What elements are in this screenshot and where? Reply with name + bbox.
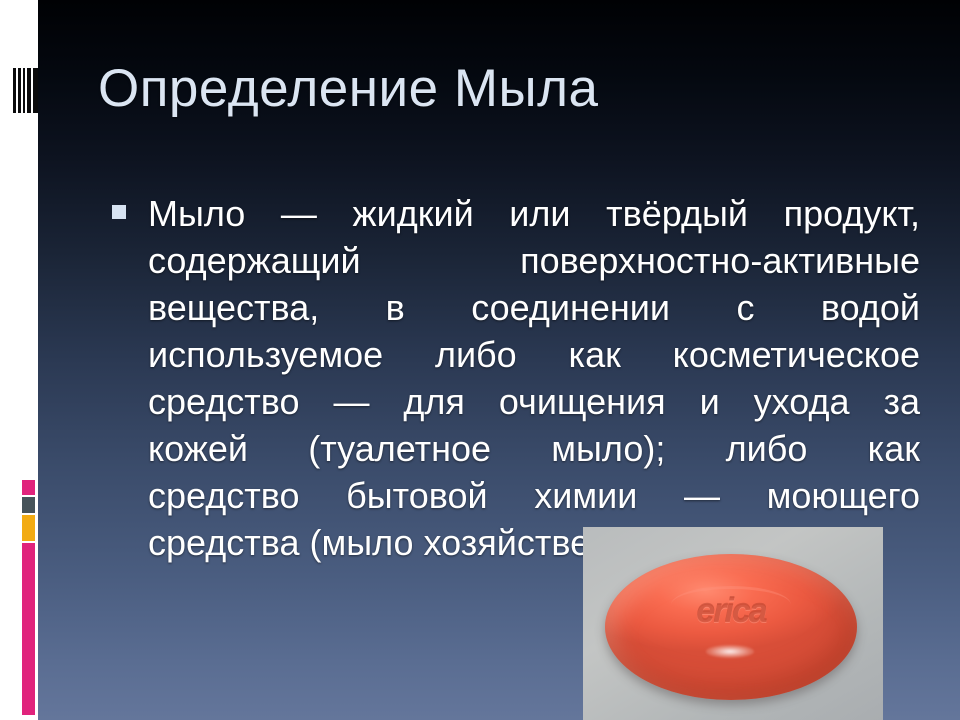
barcode-bar [18, 68, 21, 113]
accent-bar-slate [22, 497, 35, 513]
bullet-list-item: Мыло—жидкийилитвёрдыйпродукт,содержащийп… [108, 190, 920, 566]
slide-body: Мыло—жидкийилитвёрдыйпродукт,содержащийп… [108, 190, 920, 566]
barcode-bar [27, 68, 31, 113]
soap-highlight [706, 645, 754, 658]
body-line: содержащийповерхностно-активные [148, 237, 920, 284]
square-bullet-icon [112, 205, 126, 219]
barcode-bar [13, 68, 16, 113]
body-line: вещества,всоединениисводой [148, 284, 920, 331]
barcode-decoration-icon [13, 68, 39, 113]
soap-bar-photo: erica [583, 527, 883, 720]
body-paragraph: Мыло—жидкийилитвёрдыйпродукт,содержащийп… [148, 190, 920, 566]
soap-bar-shape: erica [605, 554, 857, 700]
accent-bar-pink-long [22, 543, 35, 715]
slide-title: Определение Мыла [98, 58, 928, 120]
barcode-bar [33, 68, 38, 113]
body-line: средство—дляочищенияиуходаза [148, 378, 920, 425]
body-line: Мыло—жидкийилитвёрдыйпродукт, [148, 190, 920, 237]
barcode-bar [23, 68, 25, 113]
body-line: средствобытовойхимии—моющего [148, 472, 920, 519]
presentation-slide: Определение Мыла Мыло—жидкийилитвёрдыйпр… [0, 0, 960, 720]
body-line: кожей(туалетноемыло);либокак [148, 425, 920, 472]
accent-bar-yellow [22, 515, 35, 541]
body-line: используемоелибокаккосметическое [148, 331, 920, 378]
soap-emboss-label: erica [605, 592, 857, 631]
accent-bar-pink-small [22, 480, 35, 495]
